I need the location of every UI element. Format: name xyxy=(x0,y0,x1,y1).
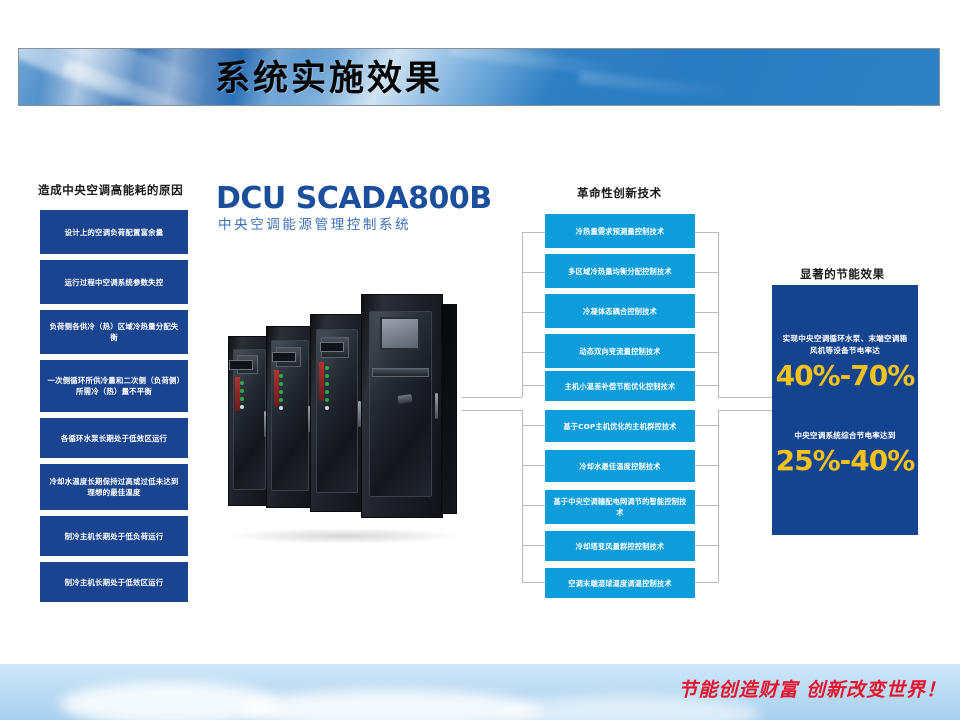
cloud-streak-decoration xyxy=(62,59,237,106)
led-indicator xyxy=(279,382,283,386)
hmi-display-screen xyxy=(380,317,420,350)
connector-branch xyxy=(522,312,545,313)
connector-branch xyxy=(462,397,522,398)
cabinet-shadow xyxy=(222,528,466,544)
led-indicator xyxy=(279,374,283,378)
page-title: 系统实施效果 xyxy=(215,51,443,106)
cabinet-control-panel xyxy=(276,347,301,367)
effect-block: 中央空调系统综合节电率达到 25%-40% xyxy=(772,430,918,478)
cloud-streak-decoration xyxy=(579,71,729,99)
effects-column-heading: 显著的节能效果 xyxy=(800,266,885,282)
connector-spine xyxy=(522,232,523,397)
cause-box: 制冷主机长期处于低负荷运行 xyxy=(40,516,188,556)
cabinet-led-column xyxy=(325,366,329,414)
cabinet-status-strip xyxy=(274,370,279,406)
cloud-streak-decoration xyxy=(18,48,207,106)
connector-branch xyxy=(718,397,772,398)
cause-box: 一次侧循环所供冷量和二次侧（负荷侧）所需冷（热）量不平衡 xyxy=(40,360,188,412)
causes-column-heading: 造成中央空调高能耗的原因 xyxy=(38,182,183,198)
connector-branch xyxy=(695,465,718,466)
led-indicator xyxy=(240,405,244,409)
led-indicator xyxy=(279,406,283,410)
connector-spine xyxy=(522,410,523,582)
slide-title-banner: 系统实施效果 xyxy=(18,48,940,106)
cabinet-vent-slot xyxy=(372,368,430,377)
led-indicator xyxy=(240,381,244,385)
led-indicator xyxy=(325,382,329,386)
led-indicator xyxy=(325,366,329,370)
footer-slogan: 节能创造财富 创新改变世界！ xyxy=(678,675,946,702)
connector-branch xyxy=(522,465,545,466)
led-indicator xyxy=(325,406,329,410)
tech-box: 多区域冷热量均衡分配控制技术 xyxy=(545,254,695,288)
connector-spine xyxy=(718,232,719,397)
cabinet-led-column xyxy=(240,381,244,413)
cabinet-unit-primary xyxy=(361,294,443,518)
connector-branch xyxy=(522,272,545,273)
effect-description: 实现中央空调循环水泵、末端空调箱风机等设备节电率达 xyxy=(772,333,918,357)
connector-branch xyxy=(462,410,522,411)
cabinet-control-panel xyxy=(321,337,349,359)
tech-box: 主机小温差补偿节能优化控制技术 xyxy=(545,371,695,401)
tech-box: 冷却塔变风量群控控制技术 xyxy=(545,531,695,561)
control-cabinet-illustration xyxy=(228,268,460,536)
connector-branch xyxy=(695,505,718,506)
connector-spine xyxy=(718,410,719,582)
cause-box: 冷却水温度长期保持过高或过低未达到理想的最佳温度 xyxy=(40,464,188,510)
cloud-streak-decoration xyxy=(18,48,215,106)
connector-branch xyxy=(695,545,718,546)
connector-branch xyxy=(718,410,772,411)
footer-band: 节能创造财富 创新改变世界！ xyxy=(0,664,960,720)
product-name: DCU SCADA800B xyxy=(216,182,492,216)
product-subtitle: 中央空调能源管理控制系统 xyxy=(218,216,411,234)
cabinet-led-column xyxy=(279,374,283,414)
connector-branch xyxy=(522,385,545,386)
cloud-decoration xyxy=(240,690,540,720)
connector-branch xyxy=(522,232,545,233)
led-indicator xyxy=(240,397,244,401)
tech-box: 冷却水最佳温度控制技术 xyxy=(545,450,695,482)
tech-box: 动态双向变流量控制技术 xyxy=(545,334,695,368)
led-indicator xyxy=(240,389,244,393)
cabinet-side-face xyxy=(441,304,457,514)
led-indicator xyxy=(279,390,283,394)
led-indicator xyxy=(325,374,329,378)
tech-box: 基于COP主机优化的主机群控技术 xyxy=(545,410,695,442)
led-indicator xyxy=(325,398,329,402)
tech-box: 冷凝体态耦合控制技术 xyxy=(545,294,695,328)
cause-box: 运行过程中空调系统参数失控 xyxy=(40,260,188,304)
connector-branch xyxy=(695,232,718,233)
connector-branch xyxy=(522,425,545,426)
panel-lcd-icon xyxy=(272,352,296,362)
cabinet-control-panel xyxy=(237,355,259,373)
connector-branch xyxy=(522,352,545,353)
effect-description: 中央空调系统综合节电率达到 xyxy=(772,430,918,442)
cause-box: 负荷侧各供冷（热）区域冷热量分配失衡 xyxy=(40,310,188,354)
connector-branch xyxy=(695,352,718,353)
connector-branch xyxy=(695,272,718,273)
tech-box: 基于中央空调输配电网调节的智能控制技术 xyxy=(545,490,695,524)
connector-branch xyxy=(695,425,718,426)
tech-box: 空调末端湿球温度调温控制技术 xyxy=(545,568,695,598)
effect-value: 25%-40% xyxy=(772,444,918,478)
connector-branch xyxy=(522,505,545,506)
cabinet-unit xyxy=(266,326,316,508)
technologies-column-heading: 革命性创新技术 xyxy=(577,185,662,201)
energy-saving-effect-panel: 实现中央空调循环水泵、末端空调箱风机等设备节电率达 40%-70% 中央空调系统… xyxy=(772,285,918,535)
cause-box: 设计上的空调负荷配置富余量 xyxy=(40,210,188,254)
connector-branch xyxy=(695,582,718,583)
connector-branch xyxy=(522,545,545,546)
effect-value: 40%-70% xyxy=(772,359,918,393)
led-indicator xyxy=(279,398,283,402)
tech-box: 冷热量需求预测量控制技术 xyxy=(545,214,695,248)
effect-block: 实现中央空调循环水泵、末端空调箱风机等设备节电率达 40%-70% xyxy=(772,333,918,393)
cloud-streak-decoration xyxy=(449,48,619,79)
cabinet-unit xyxy=(310,314,366,512)
connector-branch xyxy=(522,582,545,583)
connector-branch xyxy=(695,312,718,313)
panel-lcd-icon xyxy=(320,342,344,352)
cabinet-status-strip xyxy=(319,362,324,401)
cause-box: 各循环水泵长期处于低效区运行 xyxy=(40,418,188,458)
cause-box: 制冷主机长期处于低效区运行 xyxy=(40,562,188,602)
connector-branch xyxy=(695,385,718,386)
panel-lcd-icon xyxy=(229,360,253,370)
cabinet-door-handle xyxy=(435,393,438,419)
led-indicator xyxy=(325,390,329,394)
